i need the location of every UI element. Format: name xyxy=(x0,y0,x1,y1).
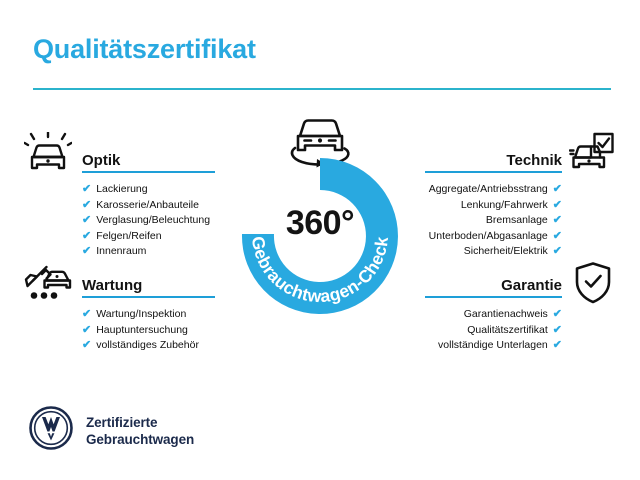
section-wartung-title: Wartung xyxy=(82,277,142,294)
section-wartung-divider xyxy=(82,296,215,298)
check-icon: ✔ xyxy=(82,246,91,257)
list-item: Garantienachweis✔ xyxy=(425,307,562,323)
section-technik-divider xyxy=(425,171,562,173)
vw-logo xyxy=(29,406,73,455)
list-item: ✔Felgen/Reifen xyxy=(82,229,215,245)
wrench-car-icon xyxy=(24,262,72,307)
check-icon: ✔ xyxy=(553,325,562,336)
list-item: ✔vollständiges Zubehör xyxy=(82,338,215,354)
badge-degrees: 360° xyxy=(228,204,412,243)
badge-360-gebrauchtwagen-check: Gebrauchtwagen-Check 360° xyxy=(228,152,412,316)
check-icon: ✔ xyxy=(82,184,91,195)
check-icon: ✔ xyxy=(553,246,562,257)
check-icon: ✔ xyxy=(82,200,91,211)
car-checkbox-icon xyxy=(569,132,615,179)
section-optik-title: Optik xyxy=(82,152,120,169)
check-icon: ✔ xyxy=(82,340,91,351)
check-icon: ✔ xyxy=(553,309,562,320)
section-technik-title: Technik xyxy=(506,152,562,169)
section-technik-header: Technik xyxy=(425,143,562,173)
section-wartung-list: ✔Wartung/Inspektion ✔Hauptuntersuchung ✔… xyxy=(82,307,215,354)
section-garantie-title: Garantie xyxy=(501,277,562,294)
vw-brand-line2: Gebrauchtwagen xyxy=(86,431,194,448)
list-item: Qualitätszertifikat✔ xyxy=(425,323,562,339)
list-item: Lenkung/Fahrwerk✔ xyxy=(425,198,562,214)
section-technik-list: Aggregate/Antriebsstrang✔ Lenkung/Fahrwe… xyxy=(425,182,562,260)
check-icon: ✔ xyxy=(82,215,91,226)
vw-brand-text: Zertifizierte Gebrauchtwagen xyxy=(86,414,194,448)
page-title: Qualitätszertifikat xyxy=(33,34,256,65)
section-garantie-divider xyxy=(425,296,562,298)
list-item-label: Garantienachweis xyxy=(464,307,548,323)
section-wartung: Wartung ✔Wartung/Inspektion ✔Hauptunters… xyxy=(82,268,215,354)
list-item-label: Wartung/Inspektion xyxy=(96,307,186,323)
check-icon: ✔ xyxy=(553,184,562,195)
check-icon: ✔ xyxy=(553,231,562,242)
list-item: Bremsanlage✔ xyxy=(425,213,562,229)
check-icon: ✔ xyxy=(553,200,562,211)
section-optik: Optik ✔Lackierung ✔Karosserie/Anbauteile… xyxy=(82,143,215,260)
car-shine-icon xyxy=(24,132,72,181)
check-icon: ✔ xyxy=(82,325,91,336)
section-garantie-header: Garantie xyxy=(425,268,562,298)
check-icon: ✔ xyxy=(82,309,91,320)
section-garantie: Garantie Garantienachweis✔ Qualitätszert… xyxy=(425,268,562,354)
list-item: vollständige Unterlagen✔ xyxy=(425,338,562,354)
list-item-label: Sicherheit/Elektrik xyxy=(464,244,548,260)
check-icon: ✔ xyxy=(553,340,562,351)
list-item: Sicherheit/Elektrik✔ xyxy=(425,244,562,260)
list-item-label: Qualitätszertifikat xyxy=(467,323,548,339)
list-item-label: vollständiges Zubehör xyxy=(96,338,199,354)
list-item-label: Unterboden/Abgasanlage xyxy=(429,229,548,245)
list-item-label: Lackierung xyxy=(96,182,147,198)
list-item: Unterboden/Abgasanlage✔ xyxy=(425,229,562,245)
shield-check-icon xyxy=(573,261,613,310)
list-item-label: Aggregate/Antriebsstrang xyxy=(429,182,548,198)
list-item-label: Bremsanlage xyxy=(486,213,548,229)
certificate-page: Qualitätszertifikat Optik ✔Lackierung ✔K… xyxy=(0,0,640,480)
title-divider xyxy=(33,88,611,90)
list-item: ✔Hauptuntersuchung xyxy=(82,323,215,339)
list-item: ✔Lackierung xyxy=(82,182,215,198)
list-item-label: Innenraum xyxy=(96,244,146,260)
list-item: Aggregate/Antriebsstrang✔ xyxy=(425,182,562,198)
list-item: ✔Karosserie/Anbauteile xyxy=(82,198,215,214)
list-item: ✔Innenraum xyxy=(82,244,215,260)
check-icon: ✔ xyxy=(82,231,91,242)
list-item-label: Karosserie/Anbauteile xyxy=(96,198,199,214)
check-icon: ✔ xyxy=(553,215,562,226)
list-item-label: Hauptuntersuchung xyxy=(96,323,188,339)
section-technik: Technik Aggregate/Antriebsstrang✔ Lenkun… xyxy=(425,143,562,260)
vw-brand-line1: Zertifizierte xyxy=(86,414,194,431)
section-optik-header: Optik xyxy=(82,143,215,173)
list-item-label: Lenkung/Fahrwerk xyxy=(461,198,548,214)
section-wartung-header: Wartung xyxy=(82,268,215,298)
vw-brand-footer: Zertifizierte Gebrauchtwagen xyxy=(29,406,194,455)
list-item: ✔Verglasung/Beleuchtung xyxy=(82,213,215,229)
section-optik-list: ✔Lackierung ✔Karosserie/Anbauteile ✔Verg… xyxy=(82,182,215,260)
list-item-label: Felgen/Reifen xyxy=(96,229,161,245)
list-item: ✔Wartung/Inspektion xyxy=(82,307,215,323)
list-item-label: vollständige Unterlagen xyxy=(438,338,548,354)
section-optik-divider xyxy=(82,171,215,173)
list-item-label: Verglasung/Beleuchtung xyxy=(96,213,210,229)
section-garantie-list: Garantienachweis✔ Qualitätszertifikat✔ v… xyxy=(425,307,562,354)
